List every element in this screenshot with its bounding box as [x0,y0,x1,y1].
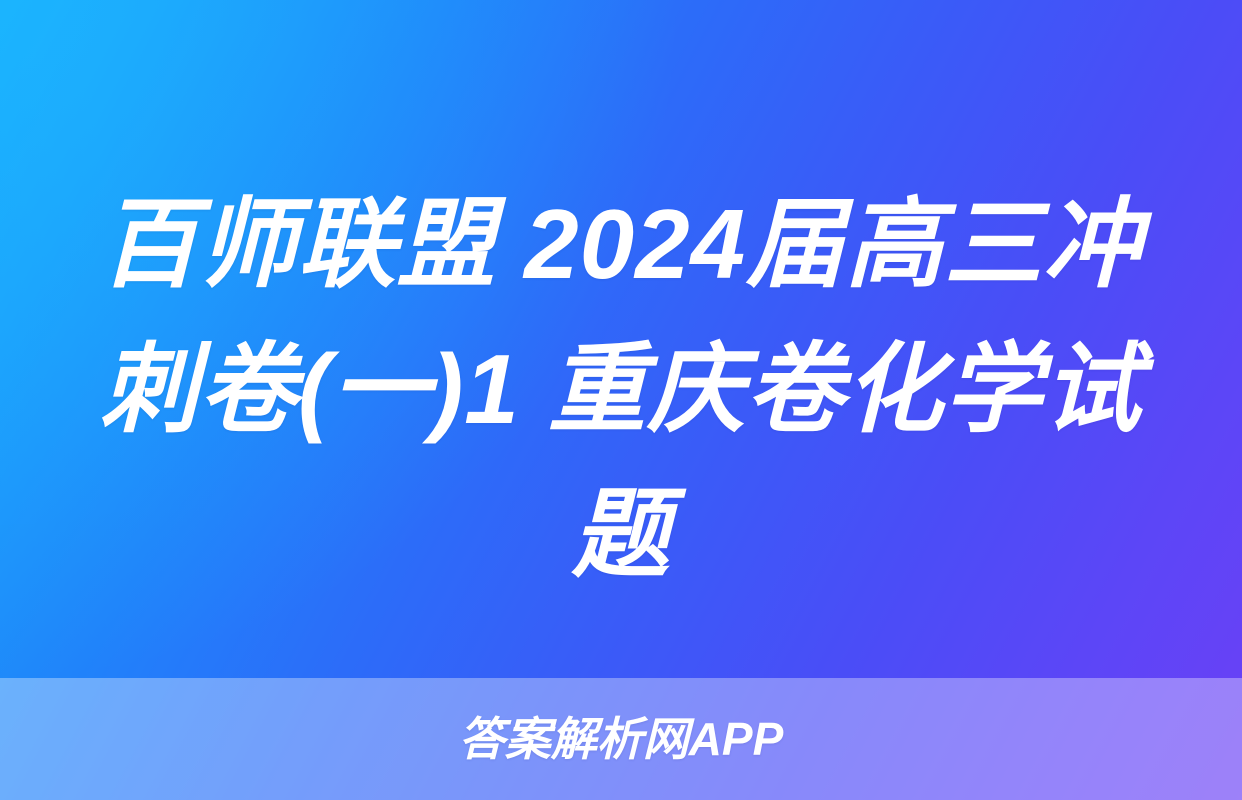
watermark-label: 答案解析网APP [459,716,784,762]
title-block: 百师联盟 2024届高三冲刺卷(一)1 重庆卷化学试题 [0,172,1242,607]
cover-card: 百师联盟 2024届高三冲刺卷(一)1 重庆卷化学试题 答案解析网APP [0,0,1242,800]
page-title: 百师联盟 2024届高三冲刺卷(一)1 重庆卷化学试题 [72,172,1170,607]
footer-watermark-band: 答案解析网APP [0,678,1242,800]
